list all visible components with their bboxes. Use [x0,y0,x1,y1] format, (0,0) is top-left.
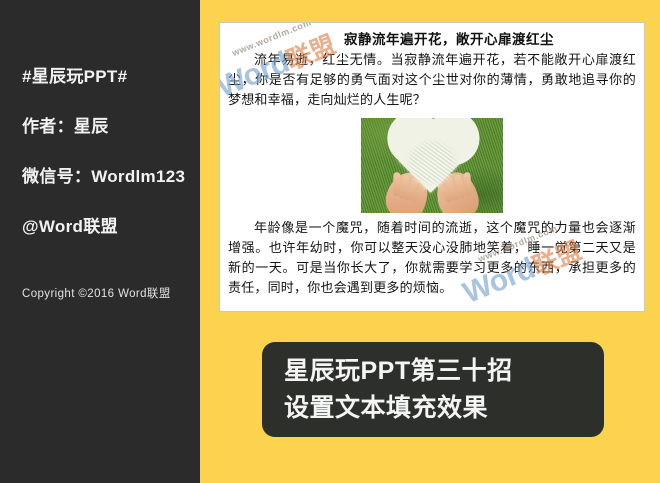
document-figure [228,118,636,213]
sidebar-copyright: Copyright ©2016 Word联盟 [22,285,171,301]
sidebar-author: 作者：星辰 [22,112,109,137]
document-body: 寂静流年遍开花，敞开心扉渡红尘 流年易逝，红尘无情。当寂静流年遍开花，若不能敞开… [220,23,644,311]
slide-canvas: #星辰玩PPT# 作者：星辰 微信号：Wordlm123 @Word联盟 Cop… [0,0,660,483]
document-paragraph-1: 流年易逝，红尘无情。当寂静流年遍开花，若不能敞开心扉渡红尘，你是否有足够的勇气面… [228,51,636,111]
sidebar-hashtag: #星辰玩PPT# [22,62,127,87]
sidebar-wechat-id: 微信号：Wordlm123 [22,162,185,187]
banner-line-1: 星辰玩PPT第三十招 [284,353,604,390]
title-banner: 星辰玩PPT第三十招 设置文本填充效果 [262,342,604,437]
document-title: 寂静流年遍开花，敞开心扉渡红尘 [228,31,636,49]
document-page: 寂静流年遍开花，敞开心扉渡红尘 流年易逝，红尘无情。当寂静流年遍开花，若不能敞开… [219,22,645,312]
sidebar-account-handle: @Word联盟 [22,212,118,237]
flower-heart-photo [361,118,503,213]
banner-line-2: 设置文本填充效果 [284,390,604,427]
document-paragraph-2: 年龄像是一个魔咒，随着时间的流逝，这个魔咒的力量也会逐渐增强。也许年幼时，你可以… [228,219,636,299]
info-sidebar: #星辰玩PPT# 作者：星辰 微信号：Wordlm123 @Word联盟 Cop… [0,0,200,483]
